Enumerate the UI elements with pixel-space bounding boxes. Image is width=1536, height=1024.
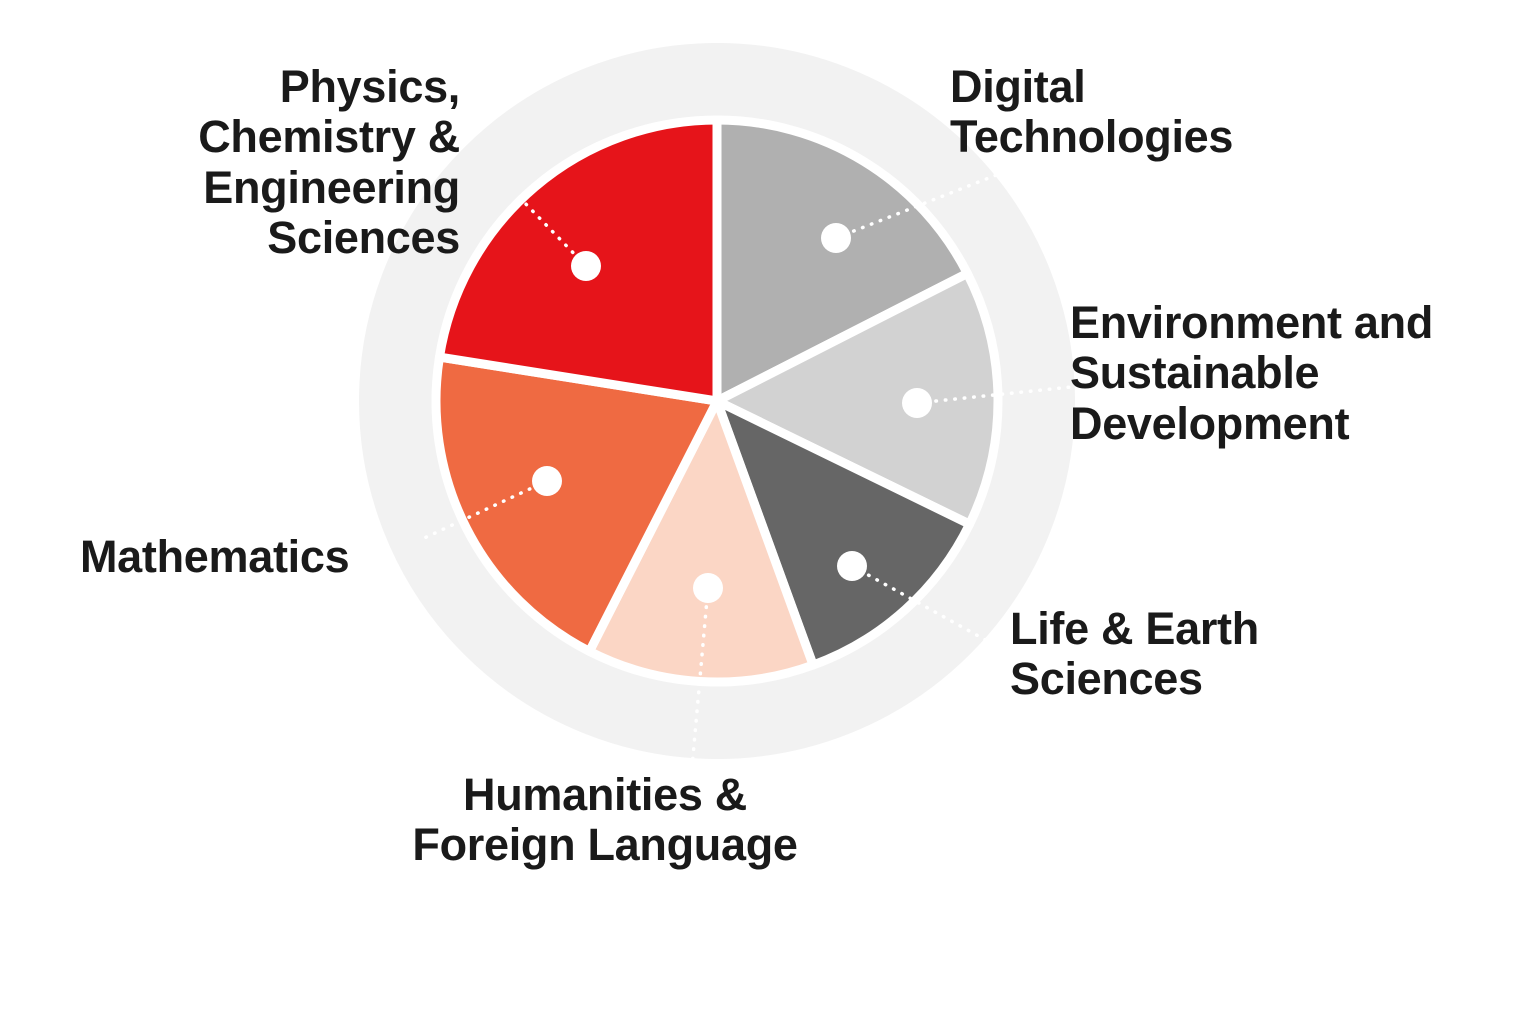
slice-label-life-and-earth-sciences: Life & Earth Sciences: [1010, 604, 1340, 705]
slice-marker-dot[interactable]: [902, 388, 932, 418]
slice-label-physics-chemistry-engineering-sciences: Physics, Chemistry & Engineering Science…: [130, 62, 460, 264]
slice-marker-dot[interactable]: [821, 223, 851, 253]
slice-marker-dot[interactable]: [532, 466, 562, 496]
slice-label-environment-and-sustainable-development: Environment and Sustainable Development: [1070, 298, 1470, 449]
slice-label-digital-technologies: Digital Technologies: [950, 62, 1280, 163]
slice-label-mathematics: Mathematics: [80, 532, 400, 582]
slice-marker-dot[interactable]: [693, 573, 723, 603]
slice-marker-dot[interactable]: [837, 551, 867, 581]
chart-canvas: Digital Technologies — 17.5%Environment …: [0, 0, 1536, 1024]
slice-marker-dot[interactable]: [571, 251, 601, 281]
slice-label-humanities-and-foreign-language: Humanities & Foreign Language: [370, 770, 840, 871]
